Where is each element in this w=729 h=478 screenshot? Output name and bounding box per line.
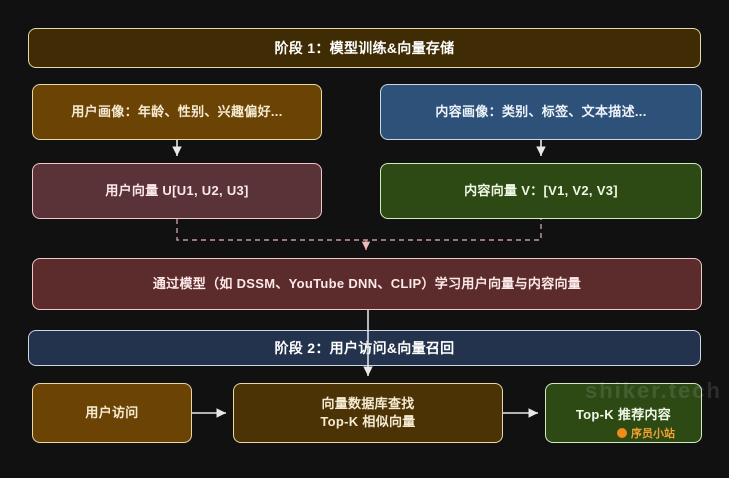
node-user-visit[interactable]: 用户访问: [32, 383, 192, 443]
orange-dot-icon: [617, 428, 627, 438]
watermark-badge-label: 序员小站: [631, 425, 675, 441]
node-content-profile[interactable]: 内容画像：类别、标签、文本描述...: [380, 84, 702, 140]
node-vector-database[interactable]: 向量数据库查找 Top-K 相似向量: [233, 383, 503, 443]
node-user-profile[interactable]: 用户画像：年龄、性别、兴趣偏好...: [32, 84, 322, 140]
stage-1-banner: 阶段 1：模型训练&向量存储: [28, 28, 701, 68]
node-model-training[interactable]: 通过模型（如 DSSM、YouTube DNN、CLIP）学习用户向量与内容向量: [32, 258, 702, 310]
dashed-merge-to-model: [177, 219, 541, 250]
watermark-badge: 序员小站: [617, 425, 675, 441]
node-content-vector[interactable]: 内容向量 V：[V1, V2, V3]: [380, 163, 702, 219]
diagram-canvas: 阶段 1：模型训练&向量存储 用户画像：年龄、性别、兴趣偏好... 内容画像：类…: [0, 0, 729, 478]
node-topk-label: Top-K 推荐内容: [576, 406, 671, 424]
node-user-vector[interactable]: 用户向量 U[U1, U2, U3]: [32, 163, 322, 219]
stage-2-banner: 阶段 2：用户访问&向量召回: [28, 330, 701, 366]
